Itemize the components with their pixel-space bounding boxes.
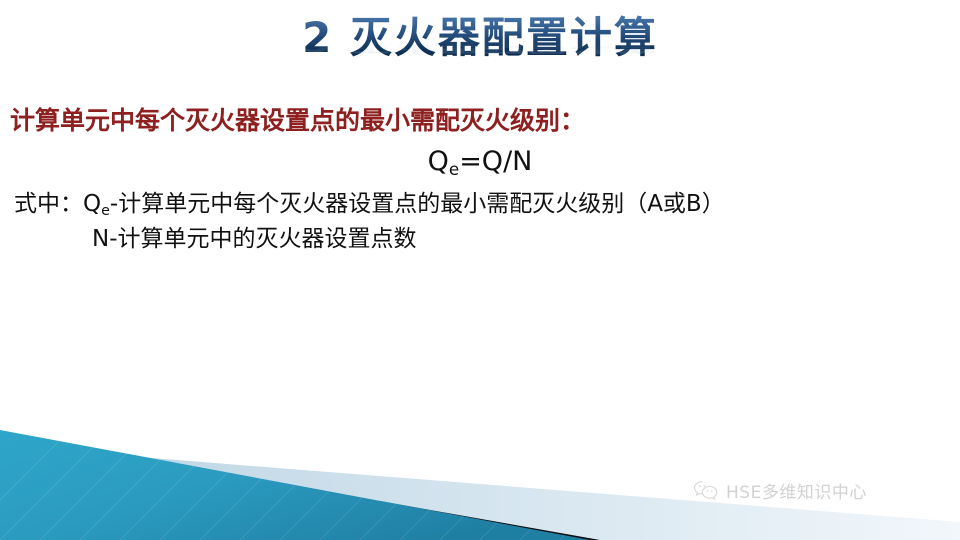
slide-canvas: 2 灭火器配置计算 2 灭火器配置计算 计算单元中每个灭火器设置点的最小需配灭火… [0, 0, 960, 540]
watermark: HSE多维知识中心 [693, 478, 867, 503]
page-title-reflection: 2 灭火器配置计算 [0, 35, 960, 55]
wechat-icon [693, 480, 719, 502]
definition-symbol-subscript: e [101, 203, 110, 219]
definition-text: -计算单元中每个灭火器设置点的最小需配灭火级别（A或B） [110, 191, 725, 217]
title-area: 2 灭火器配置计算 2 灭火器配置计算 [0, 14, 960, 102]
deco-teal-band [0, 430, 590, 540]
formula-base: Q [428, 146, 449, 177]
formula-subscript: e [449, 159, 459, 179]
definition-text: -计算单元中的灭火器设置点数 [109, 226, 416, 252]
formula-line: Qe=Q/N [0, 138, 960, 180]
definition-symbol: Q [83, 191, 101, 217]
definition-prefix: 式中： [14, 191, 83, 217]
definition-line-2: N-计算单元中的灭火器设置点数 [0, 221, 960, 256]
formula-rest: =Q/N [459, 146, 532, 177]
deco-teal-texture [0, 400, 720, 540]
body-content: 计算单元中每个灭火器设置点的最小需配灭火级别： Qe=Q/N 式中：Qe-计算单… [0, 104, 960, 256]
decorative-diagonal-bands [0, 400, 960, 540]
heading-line: 计算单元中每个灭火器设置点的最小需配灭火级别： [0, 104, 960, 138]
definition-symbol: N [92, 226, 109, 252]
page-title: 2 灭火器配置计算 [302, 14, 658, 61]
watermark-text: HSE多维知识中心 [726, 478, 867, 503]
deco-black-band [0, 434, 600, 540]
definition-line-1: 式中：Qe-计算单元中每个灭火器设置点的最小需配灭火级别（A或B） [0, 180, 960, 221]
